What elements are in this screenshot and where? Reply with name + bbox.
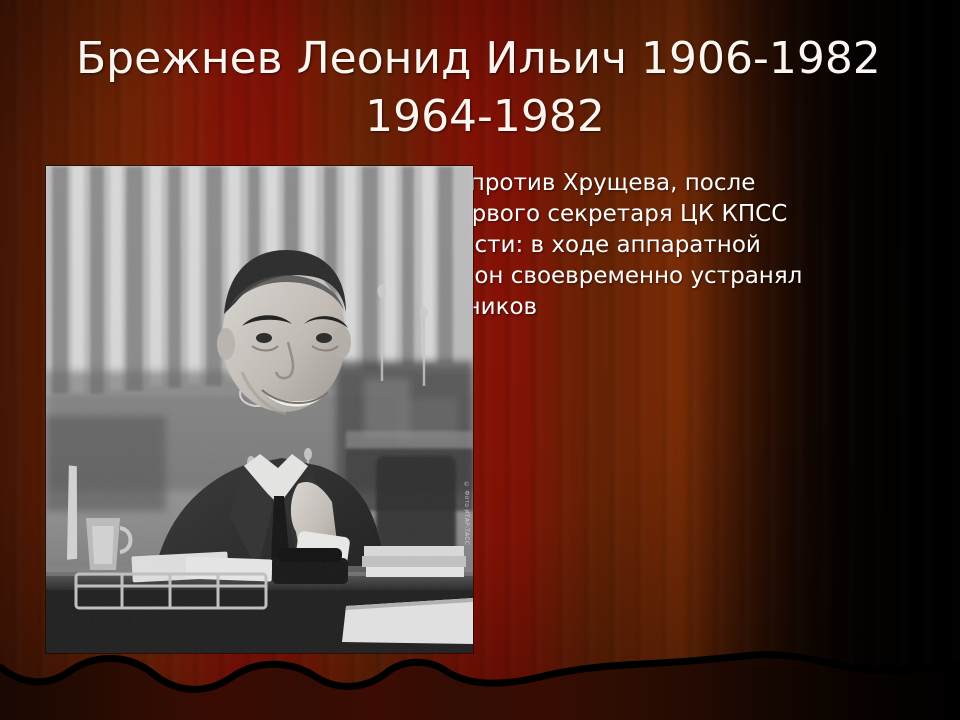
title-line-1: Брежнев Леонид Ильич 1906-1982 <box>60 30 910 88</box>
title-line-2: 1964-1982 <box>60 88 910 146</box>
presentation-slide: Брежнев Леонид Ильич 1906-1982 1964-1982… <box>0 0 960 720</box>
photo-watermark: © Фото ИТАР-ТАСС <box>459 481 471 641</box>
slide-title: Брежнев Леонид Ильич 1906-1982 1964-1982 <box>60 30 910 146</box>
brezhnev-photo: © Фото ИТАР-ТАСС <box>46 166 473 653</box>
